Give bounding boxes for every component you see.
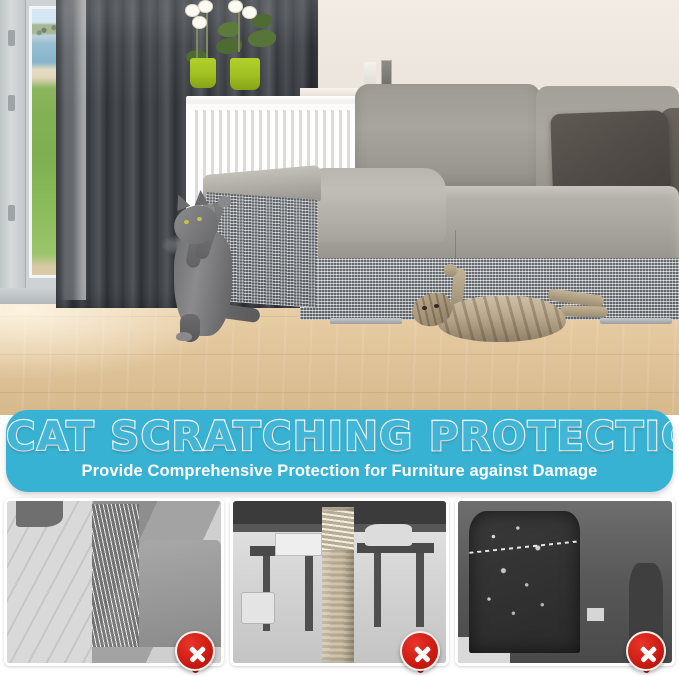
orchid-flower	[242, 6, 257, 19]
hero-lifestyle-photo	[0, 0, 679, 415]
damage-examples-row	[0, 498, 679, 676]
badge-disc	[175, 631, 215, 671]
product-image-page: CAT SCRATCHING PROTECTION Provide Compre…	[0, 0, 679, 676]
badge-disc	[626, 631, 666, 671]
scratched-chair-back	[469, 511, 580, 654]
orchid-stem	[238, 6, 240, 52]
tabby-cat	[400, 274, 615, 346]
cat-ear	[426, 281, 438, 283]
damage-photo-rope-post	[230, 498, 450, 666]
orchid-flower	[198, 0, 213, 13]
white-box	[275, 533, 322, 556]
cat-ear	[193, 190, 208, 206]
frayed-rope	[322, 511, 354, 550]
window-hinge-icon	[8, 30, 15, 46]
table-leg	[374, 553, 381, 628]
cat-ear	[409, 282, 419, 289]
window-hinge-icon	[8, 205, 15, 221]
orchid-flower	[192, 16, 207, 29]
damage-photo-sofa-corner	[4, 498, 224, 666]
orchid-stem	[206, 10, 208, 60]
x-mark-icon	[400, 631, 440, 671]
wall-outlet	[587, 608, 604, 621]
cat-paw	[444, 264, 457, 277]
cat-body	[438, 296, 566, 342]
table-leg	[305, 556, 312, 631]
orchid-flower	[228, 0, 243, 13]
window-hinge-icon	[8, 95, 15, 111]
background-shadow	[16, 501, 63, 527]
sofa-foot	[330, 318, 402, 324]
bucket	[241, 592, 275, 624]
window-jamb	[0, 0, 26, 290]
cat-paw	[218, 196, 231, 207]
cat-eye	[434, 304, 439, 308]
plant-pot	[190, 58, 216, 88]
damage-photo-leather-chair	[455, 498, 675, 666]
shredded-fabric	[92, 504, 139, 647]
cat-paw	[176, 332, 192, 341]
cat-eye	[422, 306, 427, 310]
cat-tail	[560, 305, 608, 318]
plant-pot	[230, 58, 260, 90]
table-leg	[416, 553, 423, 628]
x-mark-icon	[626, 631, 666, 671]
headline-banner: CAT SCRATCHING PROTECTION Provide Compre…	[6, 410, 673, 492]
cat-eye	[197, 217, 202, 221]
storage-bag	[365, 524, 412, 547]
x-mark-icon	[175, 631, 215, 671]
banner-subtitle: Provide Comprehensive Protection for Fur…	[6, 462, 673, 481]
cat-eye	[184, 220, 189, 224]
curtain-sheer-edge	[60, 0, 86, 300]
banner-title: CAT SCRATCHING PROTECTION	[6, 414, 673, 460]
grey-cat	[150, 186, 270, 346]
badge-disc	[400, 631, 440, 671]
